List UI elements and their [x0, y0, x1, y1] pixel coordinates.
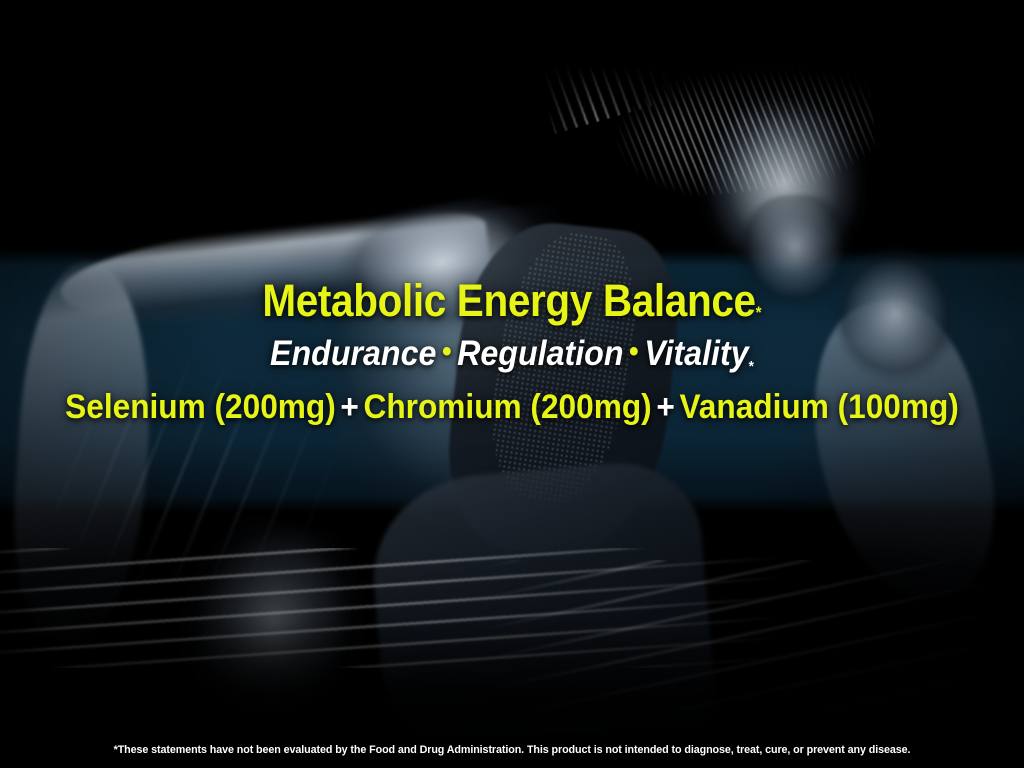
product-banner: Metabolic Energy Balance* Endurance•Regu… — [0, 0, 1024, 768]
ingredient-separator-plus: + — [652, 388, 680, 426]
ingredient-vanadium: Vanadium (100mg) — [679, 388, 958, 426]
benefit-vitality: Vitality — [644, 334, 748, 373]
bullet-separator-icon: • — [624, 335, 645, 368]
copy-block: Metabolic Energy Balance* Endurance•Regu… — [0, 278, 1024, 425]
benefit-endurance: Endurance — [270, 334, 436, 373]
bullet-separator-icon: • — [436, 335, 457, 368]
ingredient-selenium: Selenium (200mg) — [65, 388, 336, 426]
ingredients-line: Selenium (200mg)+Chromium (200mg)+Vanadi… — [36, 390, 988, 426]
ingredient-separator-plus: + — [336, 388, 364, 426]
headline: Metabolic Energy Balance* — [51, 278, 973, 324]
subline-footnote-marker: * — [749, 358, 754, 375]
fda-disclaimer: *These statements have not been evaluate… — [20, 744, 1003, 756]
ingredient-chromium: Chromium (200mg) — [364, 388, 652, 426]
headline-footnote-marker: * — [756, 303, 762, 322]
headline-text: Metabolic Energy Balance — [262, 275, 755, 326]
benefit-regulation: Regulation — [457, 334, 623, 373]
top-fade-overlay — [0, 0, 1024, 120]
benefits-line: Endurance•Regulation•Vitality* — [41, 336, 983, 373]
